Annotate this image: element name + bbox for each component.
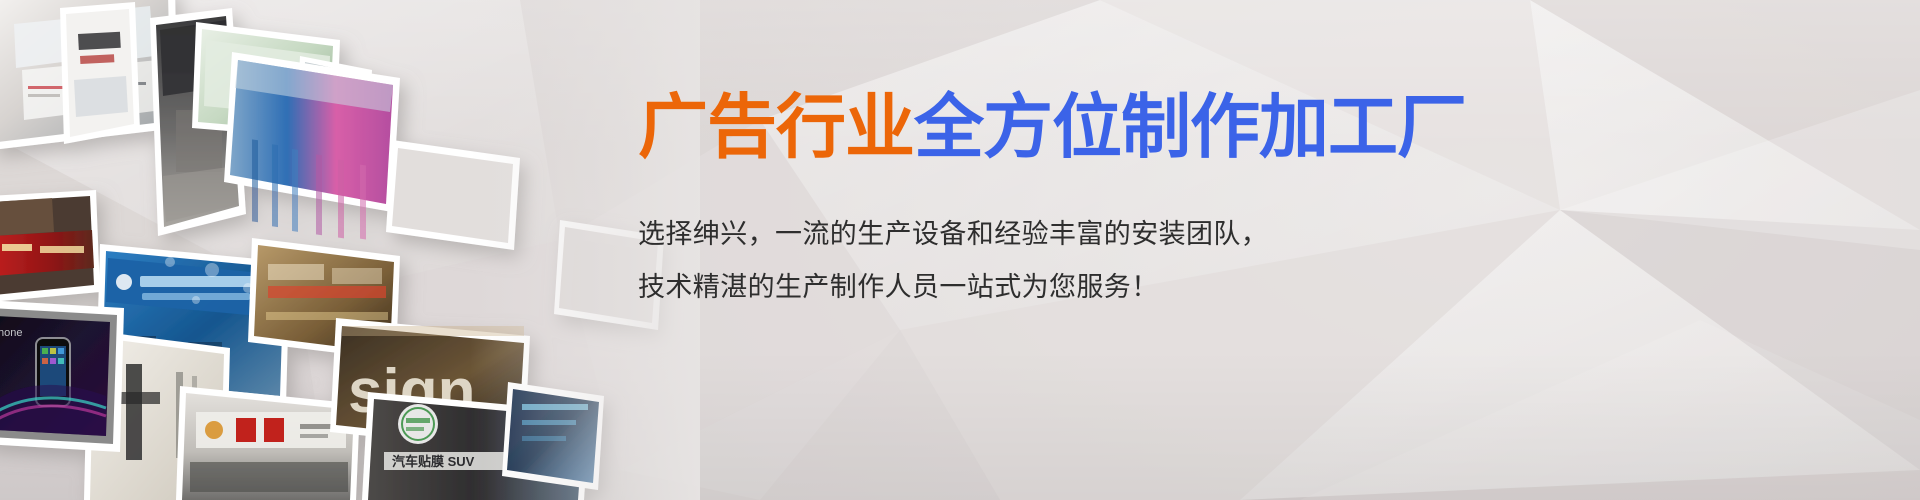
subtitle-line-1: 选择绅兴，一流的生产设备和经验丰富的安装团队， xyxy=(638,208,1538,261)
promo-banner: hone xyxy=(0,0,1920,500)
svg-text:汽车贴膜 SUV: 汽车贴膜 SUV xyxy=(392,454,475,469)
subtitle: 选择绅兴，一流的生产设备和经验丰富的安装团队， 技术精湛的生产制作人员一站式为您… xyxy=(638,208,1538,314)
advertising-signage-photo-collage: hone xyxy=(0,0,700,500)
svg-text:hone: hone xyxy=(0,327,22,339)
banner-copy: 广告行业全方位制作加工厂 选择绅兴，一流的生产设备和经验丰富的安装团队， 技术精… xyxy=(638,84,1538,314)
photo-a6l-card xyxy=(60,2,140,144)
subtitle-line-2: 技术精湛的生产制作人员一站式为您服务！ xyxy=(638,261,1538,314)
headline-blue: 全方位制作加工厂 xyxy=(914,86,1466,168)
photo-flag-banners xyxy=(224,52,400,239)
photo-red-award-banner xyxy=(0,190,100,302)
headline: 广告行业全方位制作加工厂 xyxy=(638,84,1538,170)
headline-orange: 广告行业 xyxy=(638,86,914,168)
photo-iphone-lightbox: hone xyxy=(0,300,124,452)
